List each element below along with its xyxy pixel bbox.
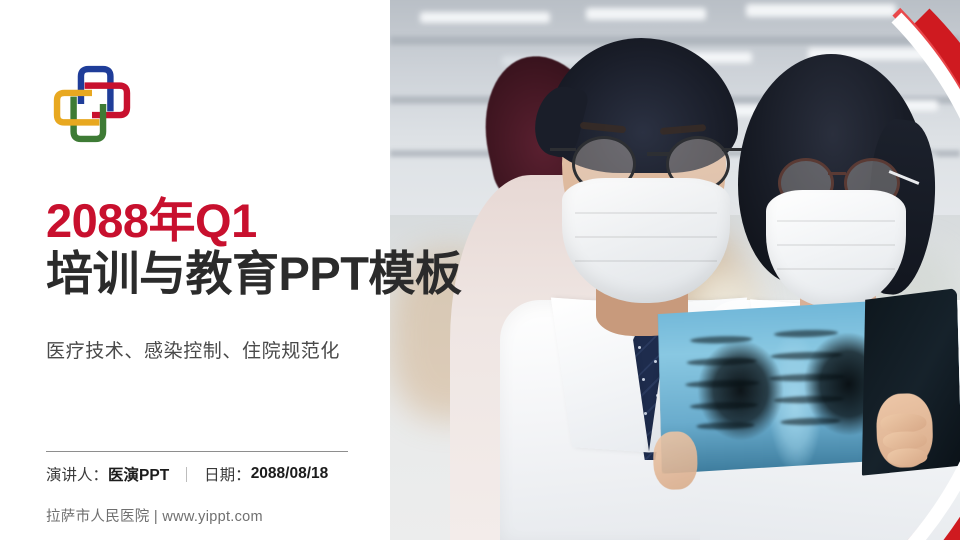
meta-line: 演讲人： 医演PPT 日期： 2088/08/18 bbox=[46, 463, 328, 485]
hand-left bbox=[653, 431, 699, 490]
title-line-2: 培训与教育PPT模板 bbox=[46, 249, 526, 300]
eyeglasses-temple bbox=[550, 148, 576, 151]
page-title: 2088年Q1 培训与教育PPT模板 bbox=[46, 196, 526, 300]
subtitle: 医疗技术、感染控制、住院规范化 bbox=[46, 336, 340, 363]
divider-line bbox=[46, 451, 348, 452]
speaker-value: 医演PPT bbox=[108, 463, 169, 485]
date-value: 2088/08/18 bbox=[251, 465, 329, 483]
presentation-cover-slide: 2088年Q1 培训与教育PPT模板 医疗技术、感染控制、住院规范化 演讲人： … bbox=[0, 0, 960, 540]
footer-text: 拉萨市人民医院 | www.yippt.com bbox=[46, 505, 263, 526]
cover-content: 2088年Q1 培训与教育PPT模板 医疗技术、感染控制、住院规范化 演讲人： … bbox=[0, 0, 420, 540]
xray-film bbox=[657, 296, 960, 519]
eyeglasses-bridge bbox=[828, 172, 846, 175]
speaker-label: 演讲人： bbox=[46, 463, 108, 485]
eyeglasses-bridge bbox=[647, 152, 669, 156]
face-mask bbox=[562, 178, 730, 303]
title-line-1: 2088年Q1 bbox=[46, 196, 526, 247]
date-label: 日期： bbox=[204, 463, 251, 485]
meta-separator bbox=[186, 467, 187, 482]
hospital-logo[interactable] bbox=[46, 58, 138, 150]
